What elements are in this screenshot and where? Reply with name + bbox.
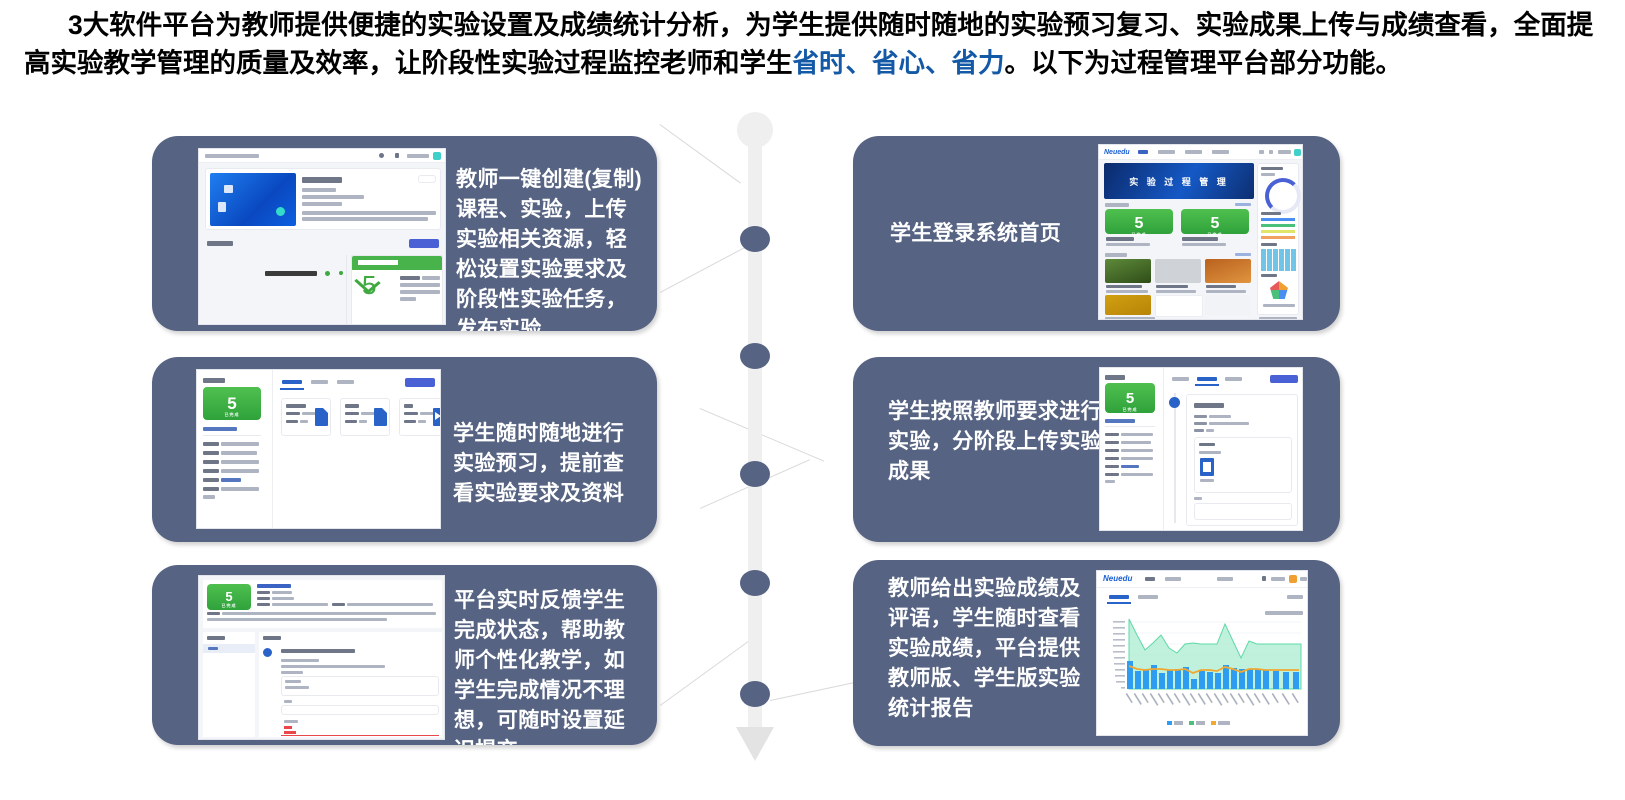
info-row-2-label — [203, 460, 219, 464]
info-row-0-label — [203, 442, 219, 446]
resource-3-meta1 — [420, 412, 434, 415]
resource-3-meta2 — [418, 420, 426, 423]
upload-info-3-value — [1121, 457, 1153, 460]
upload-info-1-value — [1121, 441, 1151, 444]
submission-meta-0 — [281, 659, 319, 662]
card-teacher-feedback-text: 平台实时反馈学生完成状态，帮助教师个性化教学，如学生完成情况不理想，可随时设置延… — [454, 586, 646, 745]
report-export-button[interactable] — [1287, 595, 1303, 599]
field-error-underline — [281, 735, 439, 736]
submission-check-icon — [263, 648, 272, 657]
screenshot-teacher-course-detail: 5 — [198, 148, 446, 325]
experiment-timestamp — [265, 271, 317, 276]
course-thumb-2-meta — [1156, 290, 1196, 293]
play-triangle — [435, 412, 441, 420]
stats-sub-progress — [1261, 173, 1275, 176]
resource-2-title — [345, 404, 359, 408]
resource-3-meta1-label — [404, 412, 418, 415]
card-student-home[interactable]: 学生登录系统首页 Neuedu 实 验 过 程 管 理 5 已完成 5 已完成 — [853, 136, 1340, 331]
score-card-1[interactable]: 5 已完成 — [1105, 209, 1173, 234]
cover-deco-3 — [276, 207, 285, 216]
info-row-2-value — [221, 460, 259, 464]
course-thumb-4[interactable] — [1105, 295, 1151, 315]
nav-item-1[interactable] — [1158, 150, 1175, 154]
report-tab-underline — [1107, 602, 1131, 604]
resource-2-meta1-label — [345, 412, 359, 415]
course-thumb-3[interactable] — [1205, 259, 1251, 283]
course-card-2-title — [1182, 237, 1218, 241]
resource-3-meta2-label — [404, 420, 416, 423]
score-card-1-num: 5 — [1105, 209, 1173, 232]
section-more-1[interactable] — [1235, 203, 1251, 206]
user-name-label — [407, 154, 429, 158]
check-mark-icon — [354, 270, 380, 293]
resource-1-title — [286, 404, 306, 408]
resources-divider — [203, 435, 261, 436]
connector-line-1 — [659, 124, 740, 184]
nav-item-2[interactable] — [1185, 150, 1202, 154]
timeline-arrow-head — [736, 727, 774, 761]
intro-text-part2: 。以下为过程管理平台部分功能。 — [1005, 48, 1403, 78]
hero-banner: 实 验 过 程 管 理 — [1104, 163, 1254, 199]
card-student-preview-text: 学生随时随地进行实验预习，提前查看实验要求及资料 — [453, 419, 643, 509]
review-score-box: 5 已完成 — [207, 584, 251, 610]
experiment-item-title — [358, 260, 398, 265]
course-thumb-6[interactable] — [1205, 295, 1251, 315]
section-title-my-courses — [1105, 203, 1129, 207]
course-card-1-meta — [1106, 243, 1150, 246]
info-row-5-label — [203, 487, 219, 491]
info-row-5-value-b — [203, 495, 215, 499]
tab-resources[interactable] — [282, 380, 302, 384]
status-dot — [325, 271, 330, 276]
experiment-desc-3 — [400, 290, 440, 294]
report-avatar[interactable] — [1289, 575, 1297, 583]
upload-info-4-value — [1121, 465, 1139, 468]
nav-item-3[interactable] — [1212, 150, 1229, 154]
upload-info-2-label — [1105, 449, 1119, 452]
review-meta-3-label — [332, 603, 345, 606]
resource-item-2[interactable] — [340, 398, 390, 436]
stage-detail-pane — [1186, 394, 1298, 526]
resources-panel-title — [203, 378, 225, 383]
cover-deco-2 — [218, 202, 226, 212]
course-desc-line-2 — [302, 217, 428, 221]
progress-donut — [1265, 178, 1301, 214]
info-row-4-value — [221, 478, 241, 482]
course-field-2 — [302, 195, 364, 199]
chart-y-axis-ticks — [1113, 621, 1125, 689]
review-title — [257, 584, 291, 588]
stage-meta-1-label — [1194, 422, 1207, 425]
portal-footer-links — [1259, 317, 1297, 320]
resource-2-meta2 — [359, 420, 367, 423]
score-card-2-num: 5 — [1181, 209, 1249, 232]
card-student-upload[interactable]: 学生按照教师要求进行实验，分阶段上传实验成果 5 已完成 — [853, 357, 1340, 542]
resource-1-meta2 — [300, 420, 308, 423]
report-nav-3[interactable] — [1217, 577, 1233, 581]
resource-1-meta2-label — [286, 420, 298, 423]
right-stats-panel — [1257, 163, 1299, 315]
card-teacher-grade-report-text: 教师给出实验成绩及评语，学生随时查看实验成绩，平台提供教师版、学生版实验统计报告 — [888, 574, 1084, 724]
info-row-5-value — [221, 487, 259, 491]
screenshot-student-upload: 5 已完成 — [1099, 367, 1303, 531]
chart-legend — [1167, 721, 1247, 726]
breadcrumb — [205, 154, 259, 158]
field-1-label — [285, 680, 301, 683]
info-row-3-value — [221, 469, 259, 473]
legend-swatch-score — [1167, 721, 1172, 725]
submission-meta-2 — [281, 671, 303, 674]
course-card-2-meta — [1182, 243, 1226, 246]
field-error-1 — [284, 726, 292, 729]
portal-search-icon[interactable] — [1259, 150, 1264, 154]
upload-link[interactable] — [1105, 419, 1135, 423]
portal-avatar[interactable] — [1294, 149, 1301, 156]
add-experiment-button[interactable] — [409, 239, 439, 248]
review-meta-0-label — [257, 591, 270, 594]
stage-check-icon — [1169, 397, 1180, 408]
info-row-3-label — [203, 469, 219, 473]
upload-score-num: 5 — [1105, 383, 1155, 407]
student-list-item-label — [208, 647, 218, 650]
upload-info-2-value — [1121, 449, 1153, 452]
upload-file-label — [1199, 451, 1221, 454]
upload-score-box: 5 已完成 — [1105, 383, 1155, 413]
upload-info-1-label — [1105, 441, 1119, 444]
legend-swatch-mean — [1211, 721, 1216, 725]
field-1-value — [285, 686, 309, 689]
report-tab-analysis[interactable] — [1109, 595, 1129, 599]
timeline-dot-5 — [740, 681, 770, 707]
resources-score-label: 已完成 — [203, 412, 261, 418]
legend-label-score — [1174, 721, 1183, 725]
upload-panel-title — [1105, 375, 1125, 380]
upload-tab-final[interactable] — [1225, 377, 1242, 381]
upload-info-5-label — [1105, 473, 1119, 476]
upload-info-0-value — [1121, 433, 1153, 436]
info-row-1-label — [203, 451, 219, 455]
stage-meta-2-label — [1194, 429, 1204, 432]
nav-item-0[interactable] — [1138, 150, 1148, 154]
stage-title — [1194, 403, 1224, 408]
file-icon-inner — [1203, 462, 1211, 472]
upload-tab-underline — [1195, 384, 1219, 386]
course-thumb-3-title — [1206, 285, 1236, 288]
stage-rail — [1174, 393, 1176, 523]
screenshot-student-portal-home: Neuedu 实 验 过 程 管 理 5 已完成 5 已完成 — [1098, 144, 1303, 320]
portal-user-name — [1278, 150, 1291, 154]
info-row-4-label — [203, 478, 219, 482]
back-button[interactable] — [418, 175, 436, 183]
report-toolbar-icons[interactable] — [1265, 611, 1303, 615]
report-logout[interactable] — [1300, 577, 1307, 581]
course-desc-line-1 — [302, 211, 436, 215]
submission-tab[interactable] — [263, 636, 281, 640]
upload-info-5-value — [1121, 473, 1153, 476]
card-student-home-text: 学生登录系统首页 — [890, 219, 1100, 249]
report-tab-statistics[interactable] — [1138, 595, 1158, 599]
grade-chart-svg — [1105, 617, 1303, 717]
intro-paragraph: 3大软件平台为教师提供便捷的实验设置及成绩统计分析，为学生提供随时随地的实验预习… — [24, 6, 1604, 82]
neuedu-logo: Neuedu — [1104, 149, 1130, 156]
score-bar-3 — [1261, 230, 1295, 233]
resource-item-1[interactable] — [281, 398, 331, 436]
course-thumb-1-meta — [1106, 290, 1148, 293]
review-desc-line-1 — [222, 612, 436, 615]
legend-swatch-average — [1189, 721, 1194, 725]
screenshot-statistics-report: Neuedu — [1096, 570, 1308, 736]
review-score-num: 5 — [207, 584, 251, 603]
timeline-dot-2 — [740, 343, 770, 369]
stats-title-score — [1261, 212, 1281, 215]
card-teacher-create[interactable]: 5 教师一键创建(复制)课程、实验，上传实验相关资源，轻松设置实验要求及阶段性实… — [152, 136, 657, 331]
remark-input[interactable] — [1194, 503, 1292, 520]
stage-meta-1 — [1209, 422, 1249, 425]
stats-title-progress — [1261, 167, 1283, 170]
resource-item-3[interactable] — [399, 398, 441, 436]
status-dot-2 — [339, 271, 343, 275]
section-title-recommended — [1105, 253, 1127, 257]
grade-chart — [1105, 617, 1303, 717]
review-desc-label — [207, 612, 220, 615]
resources-score-box: 5 已完成 — [203, 387, 261, 420]
course-thumb-1-title — [1106, 285, 1142, 288]
report-bell-icon[interactable] — [1262, 576, 1266, 581]
experiment-item-card[interactable]: 5 — [351, 255, 443, 325]
submit-result-button[interactable] — [1270, 375, 1298, 383]
calendar-grid — [1261, 249, 1297, 271]
review-desc-line-2 — [207, 618, 387, 621]
report-user-name — [1271, 577, 1285, 581]
course-thumb-2[interactable] — [1155, 259, 1201, 283]
stage-meta-0-label — [1194, 415, 1207, 418]
section-more-2[interactable] — [1235, 253, 1251, 256]
report-nav-1[interactable] — [1165, 577, 1181, 581]
portal-bell-icon[interactable] — [1269, 150, 1273, 154]
review-meta-2 — [272, 603, 328, 606]
student-list-title — [207, 636, 225, 640]
resource-1-meta1 — [302, 412, 316, 415]
search-icon[interactable] — [379, 153, 384, 158]
hero-banner-title: 实 验 过 程 管 理 — [1129, 175, 1229, 188]
radar-chart — [1270, 281, 1288, 299]
screenshot-student-resources: 5 已完成 — [196, 369, 441, 529]
experiment-desc-1 — [422, 276, 440, 280]
timeline-dot-4 — [740, 570, 770, 596]
stage-meta-2 — [1206, 429, 1214, 432]
portal-footer — [1105, 317, 1155, 320]
score-bar-1 — [1261, 218, 1295, 221]
timeline-dot-3 — [740, 461, 770, 487]
course-hero-pane — [205, 168, 441, 230]
course-thumb-5[interactable] — [1155, 295, 1203, 317]
field-2-input[interactable] — [281, 705, 439, 715]
course-thumb-1[interactable] — [1105, 259, 1151, 283]
score-bar-4 — [1261, 236, 1295, 239]
upload-info-5-value-b — [1105, 480, 1115, 483]
review-meta-1 — [272, 597, 294, 600]
course-card-1-title — [1106, 237, 1134, 241]
resources-link[interactable] — [203, 427, 237, 431]
course-title — [302, 177, 342, 183]
course-thumb-2-title — [1156, 285, 1188, 288]
start-experiment-button[interactable] — [405, 378, 435, 387]
score-bar-2 — [1261, 224, 1295, 227]
avatar[interactable] — [433, 152, 441, 160]
timeline-bar — [748, 126, 762, 734]
card-teacher-grade-report[interactable]: 教师给出实验成绩及评语，学生随时查看实验成绩，平台提供教师版、学生版实验统计报告… — [853, 560, 1340, 746]
timeline-vertical-rule — [346, 255, 347, 325]
timeline-dot-1 — [740, 226, 770, 252]
screenshot-teacher-review: 5 已完成 — [198, 575, 445, 740]
resource-2-meta1 — [361, 412, 375, 415]
stage-upload-pane — [1194, 437, 1292, 493]
upload-info-3-label — [1105, 457, 1119, 460]
card-teacher-feedback[interactable]: 5 已完成 平台实时反馈学 — [152, 565, 657, 745]
remark-label — [1194, 497, 1202, 500]
tab-stage-tasks[interactable] — [311, 380, 328, 384]
uploaded-file-name — [1200, 479, 1214, 482]
submission-meta-1 — [281, 665, 385, 668]
course-field-3 — [302, 202, 342, 206]
upload-section-label — [1199, 443, 1215, 446]
experiment-desc-label — [400, 276, 420, 280]
review-score-label: 已完成 — [207, 603, 251, 609]
process-timeline — [737, 112, 773, 772]
card-student-upload-text: 学生按照教师要求进行实验，分阶段上传实验成果 — [888, 397, 1106, 487]
resource-2-meta2-label — [345, 420, 357, 423]
tab-final-result[interactable] — [337, 380, 354, 384]
report-neuedu-logo: Neuedu — [1103, 575, 1132, 583]
resources-score-num: 5 — [203, 387, 261, 412]
card-teacher-create-text: 教师一键创建(复制)课程、实验，上传实验相关资源，轻松设置实验要求及阶段性实验任… — [456, 165, 642, 331]
review-meta-2-label — [257, 603, 270, 606]
review-meta-1-label — [257, 597, 270, 600]
field-3-label — [284, 720, 298, 723]
submission-field-1 — [281, 676, 439, 696]
intro-highlight: 省时、省心、省力 — [793, 48, 1005, 78]
info-row-1-value — [221, 451, 257, 455]
cover-deco-1 — [224, 185, 233, 193]
card-student-preview[interactable]: 5 已完成 — [152, 357, 657, 542]
score-card-2[interactable]: 5 已完成 — [1181, 209, 1249, 234]
radar-legend — [1263, 304, 1295, 307]
upload-tab-stage[interactable] — [1197, 377, 1217, 381]
stage-meta-0 — [1209, 415, 1231, 418]
submission-file-title — [281, 649, 355, 653]
upload-info-0-label — [1105, 433, 1119, 436]
field-error-2 — [284, 731, 296, 734]
course-thumb-3-meta — [1206, 290, 1246, 293]
chart-x-tick-labels — [1126, 693, 1299, 706]
course-cover-image — [210, 173, 296, 226]
stats-title-calendar — [1261, 243, 1277, 246]
experiment-list-title — [207, 241, 233, 246]
experiment-desc-4 — [400, 297, 416, 301]
resource-1-meta1-label — [286, 412, 300, 415]
bell-icon[interactable] — [395, 153, 399, 158]
course-field-1 — [302, 188, 336, 192]
review-meta-3 — [347, 603, 433, 606]
review-meta-0 — [272, 591, 292, 594]
stats-title-radar — [1261, 274, 1277, 277]
field-2-label — [284, 700, 292, 703]
resource-3-title — [404, 404, 413, 408]
legend-label-average — [1196, 721, 1205, 725]
experiment-desc-2 — [400, 283, 440, 287]
info-row-0-value — [221, 442, 259, 446]
upload-score-label: 已完成 — [1105, 407, 1155, 413]
upload-divider — [1105, 426, 1155, 427]
legend-label-mean — [1218, 721, 1230, 725]
tab-resources-underline — [280, 388, 304, 390]
upload-info-4-label — [1105, 465, 1119, 468]
upload-tab-resources[interactable] — [1172, 377, 1189, 381]
report-nav-0[interactable] — [1145, 577, 1155, 581]
